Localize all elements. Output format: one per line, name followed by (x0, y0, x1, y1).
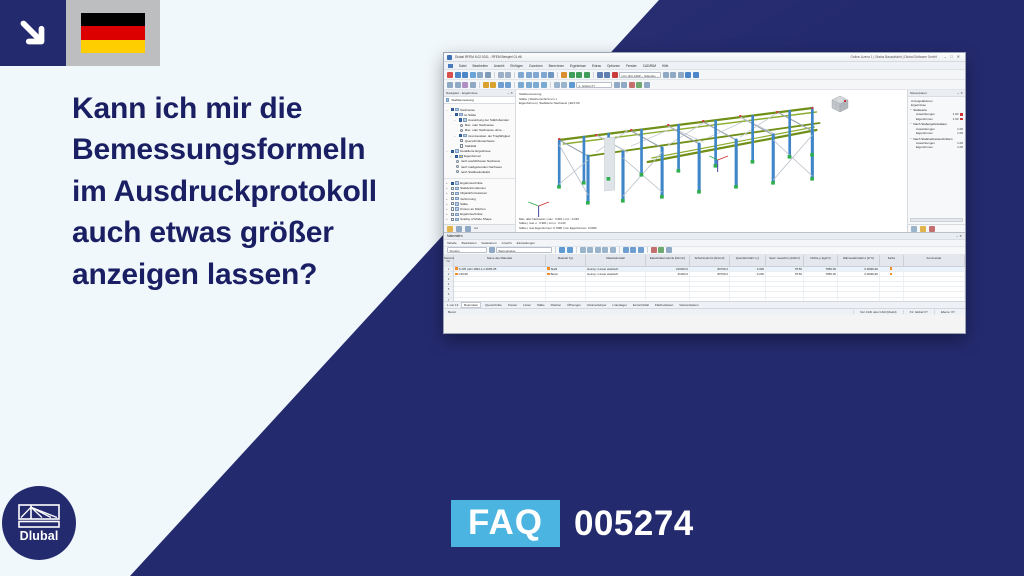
table-grid[interactable]: Material Nr. 1 2 3 4 5 6 7 8 9 Name des … (444, 255, 965, 302)
table-tab-flaechen[interactable]: Flächen (549, 303, 562, 307)
viewport-footnote-3: Stäbe | max Eigenformen: 0.7998 | min Ei… (519, 226, 597, 230)
cell-nu: 0.200 (730, 272, 766, 276)
table-menu-selektieren[interactable]: Selektieren (481, 241, 496, 245)
toolbar-icon-redo[interactable] (505, 72, 511, 78)
table-tabs[interactable]: 1 von 13 Materialien Querschnitte Knoten… (444, 301, 965, 308)
toolbar-icon-calc-2[interactable] (569, 72, 575, 78)
toolbar2-icon-17[interactable] (621, 82, 627, 88)
headline-line-2: Bemessungsformeln (72, 129, 442, 170)
table-tab-linien[interactable]: Linien (522, 303, 533, 307)
cell-rho: 7850.00 (804, 267, 838, 271)
toolbar2-separator-2 (514, 82, 515, 88)
cell-color (880, 267, 904, 271)
table-tab-materialien[interactable]: Materialien (461, 302, 480, 308)
cell-gmod: 80769.2 (690, 267, 730, 271)
toolbar-icon-more-1[interactable] (663, 72, 669, 78)
maximize-icon[interactable]: □ (950, 55, 952, 59)
table-menu-ansicht[interactable]: Ansicht (502, 241, 512, 245)
navigator-foot-label: ref (474, 227, 478, 231)
toolbar-icon-calc-1[interactable] (561, 72, 567, 78)
flag-stripe-black (81, 13, 145, 26)
toolbar-icon-view-3[interactable] (533, 72, 539, 78)
toolbar-separator-4 (593, 72, 594, 78)
toolbar2-icon-15[interactable] (569, 82, 575, 88)
column-header-gmod[interactable]: Schubmodul G [N/mm²] (690, 255, 730, 266)
toolbar-icon-grid-1[interactable] (597, 72, 603, 78)
table-tool-icon-4[interactable] (580, 247, 586, 253)
table-tool-icon-5[interactable] (587, 247, 593, 253)
toolbar-icon-save[interactable] (462, 72, 468, 78)
table-tool-icon-8[interactable] (610, 247, 616, 253)
navigator-active-tab[interactable]: Stabbemessung (444, 97, 515, 104)
menu-item-zuordnen[interactable]: Zuordnen (529, 64, 543, 68)
toolbar-separator-2 (514, 72, 515, 78)
tree-item[interactable]: −Grenzauslast. der Tragfähigkeit (446, 133, 513, 138)
cell-gmod: 80769.2 (690, 272, 730, 276)
cell-type: Beton (546, 272, 586, 276)
toolbar-icon-view-5[interactable] (548, 72, 554, 78)
table-tab-volumenlasten[interactable]: Volumenlasten (678, 303, 700, 307)
menu-item-bearbeiten[interactable]: Bearbeiten (472, 64, 487, 68)
menu-item-berechnen[interactable]: Berechnen (549, 64, 564, 68)
column-header-nu[interactable]: Querdehnzahl ν [-] (730, 255, 766, 266)
table-panel-title: Materialien ⌄ ✕ (444, 233, 965, 240)
table-tool-icon-13[interactable] (658, 247, 664, 253)
toolbar2-icon-11[interactable] (533, 82, 539, 88)
toolbar-icon-view-2[interactable] (526, 72, 532, 78)
table-menu-bearbeiten[interactable]: Bearbeiten (462, 241, 477, 245)
toolbar-icon-view-4[interactable] (541, 72, 547, 78)
column-header-comment[interactable]: Kommentar (904, 255, 965, 266)
navigator-foot-icon-3[interactable] (465, 226, 471, 232)
toolbar-separator-1 (494, 72, 495, 78)
toolbar2-icon-10[interactable] (526, 82, 532, 88)
app-body: Navigator - Ergebnisse ⌄ ✕ Stabbemessung… (444, 90, 965, 232)
navigator-header: Navigator - Ergebnisse ⌄ ✕ (444, 90, 515, 97)
status-left: Bereit (448, 310, 853, 314)
table-tool-icon-9[interactable] (623, 247, 629, 253)
table-menu-einstellungen[interactable]: Einstellungen (517, 241, 535, 245)
control-panel-header: Steuerpanel ⌄ ✕ (908, 90, 965, 97)
column-header-type[interactable]: Material Typ (546, 255, 586, 266)
status-plane: Ebene: XY (934, 310, 961, 314)
toolbar2-icon-19[interactable] (636, 82, 642, 88)
flag-stripe-gold (81, 40, 145, 53)
headline: Kann ich mir die Bemessungsformeln im Au… (72, 88, 442, 295)
toolbar2-icon-16[interactable] (614, 82, 620, 88)
headline-line-5: anzeigen lassen? (72, 254, 442, 295)
menu-item-datei[interactable]: Datei (459, 64, 466, 68)
app-title: Dlubal RFEM 6.02.0011 - RFEM Beispiel 01… (455, 55, 847, 59)
control-panel-scrollbar[interactable] (910, 218, 963, 222)
table-tab-volumenkoerper[interactable]: Volumenkörper (585, 303, 608, 307)
table-tool-icon-12[interactable] (651, 247, 657, 253)
table-tab-staebe[interactable]: Stäbe (535, 303, 546, 307)
table-toolbar-separator-2 (576, 247, 577, 253)
cell-nu: 0.300 (730, 267, 766, 271)
table-tool-icon-1[interactable] (489, 247, 495, 253)
status-view: X1: Global XY (903, 310, 934, 314)
color-swatch[interactable] (960, 113, 963, 116)
table-row-headers: Material Nr. 1 2 3 4 5 6 7 8 9 (444, 255, 454, 302)
control-row[interactable]: Auswirkungen 1.00 (910, 126, 963, 131)
app-toolbar-primary[interactable]: LK1 (EN 1993) - Ständige ... (444, 70, 965, 80)
cell-rho: 7850.00 (804, 272, 838, 276)
bridge-truss-icon (18, 504, 60, 528)
toolbar-icon-result[interactable] (612, 72, 618, 78)
navigator-pin-icon[interactable]: ⌄ ✕ (507, 91, 513, 95)
table-tool-icon-14[interactable] (666, 247, 672, 253)
navigator-foot-icon-2[interactable] (456, 226, 462, 232)
toolbar2-icon-13[interactable] (554, 82, 560, 88)
table-tab-flaechenlasten[interactable]: Flächenlasten (653, 303, 674, 307)
rfem-application-window: Dlubal RFEM 6.02.0011 - RFEM Beispiel 01… (443, 52, 966, 334)
load-case-combo[interactable]: LK1 (EN 1993) - Ständige ... (619, 72, 661, 78)
cell-alpha: 0.0000120 (838, 267, 880, 271)
menu-item-fenster[interactable]: Fenster (626, 64, 637, 68)
toolbar2-icon-3[interactable] (462, 82, 468, 88)
flag-badge (66, 0, 160, 66)
table-pager[interactable]: 1 von 13 (447, 303, 458, 307)
cell-name: C25/30 (454, 272, 546, 276)
toolbar2-icon-20[interactable] (644, 82, 650, 88)
color-swatch[interactable] (960, 118, 963, 121)
control-panel-group: − Stabwerte Auswirkungen 1.00 Eigenforme… (908, 107, 965, 121)
toolbar-icon-preview[interactable] (485, 72, 491, 78)
tree-item[interactable]: −Auswirkung der Stäbfußenden (446, 117, 513, 122)
german-flag-icon (81, 13, 145, 53)
dlubal-logo: Dlubal (2, 486, 76, 560)
control-panel-subtitle: Anzeigefaktoren Ergebnisse (908, 97, 965, 107)
table-tab-exzentrizitaet[interactable]: Exzentrizität (631, 303, 650, 307)
minimize-icon[interactable]: – (944, 55, 946, 59)
table-type-combo[interactable]: Basisobjekte (496, 247, 552, 253)
cell-gamma: 78.50 (766, 272, 804, 276)
group-expander-icon[interactable]: − (910, 137, 912, 141)
menu-item-hilfe[interactable]: Hilfe (662, 64, 668, 68)
table-tab-linienlager[interactable]: Linienlager (611, 303, 628, 307)
toolbar-icon-more-3[interactable] (678, 72, 684, 78)
menu-item-ansicht[interactable]: Ansicht (494, 64, 504, 68)
menu-item-extras[interactable]: Extras (592, 64, 601, 68)
toolbar-icon-grid-2[interactable] (604, 72, 610, 78)
navigator-tab-icon (446, 98, 449, 101)
column-header-rho[interactable]: Dichte ρ [kg/m³] (804, 255, 838, 266)
table-toolbar-separator-4 (647, 247, 648, 253)
table-header-row: Name des Materials Material Typ Material… (454, 255, 965, 267)
toolbar2-icon-7[interactable] (498, 82, 504, 88)
app-menubar[interactable]: Datei Bearbeiten Ansicht Einfügen Zuordn… (444, 62, 965, 70)
toolbar-icon-more-5[interactable] (693, 72, 699, 78)
control-panel-footer[interactable] (908, 224, 965, 232)
toolbar-icon-more-2[interactable] (670, 72, 676, 78)
control-panel-close-icon[interactable]: ⌄ ✕ (957, 91, 963, 95)
control-row[interactable]: Auswirkungen 1.00 (910, 141, 963, 146)
toolbar-icon-new[interactable] (447, 72, 453, 78)
navigator-tree[interactable]: −Nachweise −Ist Stäbe −Auswirkung der St… (444, 104, 515, 178)
navigator-title: Navigator - Ergebnisse (446, 91, 477, 95)
menu-item-einfuegen[interactable]: Einfügen (510, 64, 523, 68)
toolbar-icon-saveas[interactable] (470, 72, 476, 78)
faq-label-chip: FAQ (451, 500, 560, 547)
toolbar2-icon-12[interactable] (541, 82, 547, 88)
toolbar2-separator-3 (550, 82, 551, 88)
table-tool-icon-11[interactable] (638, 247, 644, 253)
cell-emod: 31000.0 (646, 272, 690, 276)
toolbar-icon-calc-4[interactable] (584, 72, 590, 78)
toolbar2-icon-18[interactable] (629, 82, 635, 88)
toolbar2-icon-2[interactable] (455, 82, 461, 88)
control-foot-icon-3[interactable] (929, 226, 935, 232)
headline-line-3: im Ausdruckprotokoll (72, 171, 442, 212)
table-tool-icon-2[interactable] (559, 247, 565, 253)
cell-emod: 210000.0 (646, 267, 690, 271)
table-toolbar-separator-1 (555, 247, 556, 253)
toolbar-separator-3 (557, 72, 558, 78)
viewport-footnotes: Max. aller Nachweis | max : 0.981 | min … (519, 217, 597, 230)
toolbar-icon-calc-3[interactable] (576, 72, 582, 78)
control-panel: Steuerpanel ⌄ ✕ Anzeigefaktoren Ergebnis… (907, 90, 965, 232)
arrow-badge (0, 0, 66, 66)
close-icon[interactable]: ✕ (957, 55, 960, 59)
cell-alpha: 0.0000120 (838, 272, 880, 276)
model-viewport[interactable]: Stabbemessung Stäbe | Flächenschnitt um … (516, 90, 907, 232)
app-logo-icon (447, 55, 452, 60)
toolbar2-icon-8[interactable] (505, 82, 511, 88)
table-tool-icon-3[interactable] (567, 247, 573, 253)
column-header-color[interactable]: Farbe (880, 255, 904, 266)
status-bar: Bereit Nur CAD oder CAD (Modul) X1: Glob… (444, 308, 965, 315)
toolbar2-icon-4[interactable] (470, 82, 476, 88)
origin-axes (709, 156, 728, 172)
app-toolbar-secondary[interactable]: 1. Global XY (444, 80, 965, 90)
table-columns: Name des Materials Material Typ Material… (454, 255, 965, 302)
column-header-alpha[interactable]: Wärmedehnzahl α [1/°C] (838, 255, 880, 266)
column-header-gamma[interactable]: Spez. Gewicht γ [kN/m³] (766, 255, 804, 266)
tree-item[interactable]: nach Stabbaukollektiv (446, 169, 513, 174)
toolbar-icon-undo[interactable] (498, 72, 504, 78)
table-filter-combo[interactable]: Struktur (447, 247, 487, 253)
cell-gamma: 78.50 (766, 267, 804, 271)
navigator-foot-icon-1[interactable] (447, 226, 453, 232)
cell-type: Stahl (546, 267, 586, 271)
toolbar2-icon-14[interactable] (561, 82, 567, 88)
table-toolbar-separator-3 (619, 247, 620, 253)
navigator-tree-bottom[interactable]: +Ergebnisschnitte +Stabdeformationen +Ob… (444, 178, 515, 225)
toolbar2-icon-5[interactable] (483, 82, 489, 88)
column-header-name[interactable]: Name des Materials (454, 255, 546, 266)
table-toolbar[interactable]: Struktur Basisobjekte (444, 247, 965, 255)
column-header-emod[interactable]: Elastizitätsmodul E [N/mm²] (646, 255, 690, 266)
table-tab-oeffnungen[interactable]: Öffnungen (566, 303, 583, 307)
toolbar2-icon-6[interactable] (490, 82, 496, 88)
navigator-tab-label: Stabbemessung (451, 98, 473, 102)
toolbar-icon-open[interactable] (455, 72, 461, 78)
table-corner-header: Material Nr. (444, 255, 453, 267)
menu-burger-icon[interactable] (448, 64, 453, 68)
group-expander-icon[interactable]: − (910, 108, 912, 112)
group-expander-icon[interactable]: − (910, 122, 912, 126)
toolbar2-separator-1 (479, 82, 480, 88)
menu-item-optionen[interactable]: Optionen (607, 64, 620, 68)
view-cube-gizmo[interactable] (829, 94, 851, 114)
table-tab-knoten[interactable]: Knoten (506, 303, 518, 307)
flag-stripe-red (81, 26, 145, 39)
app-license-label: Online-Lizenz 1 | Status Bauaufsicht | D… (850, 55, 937, 59)
control-panel-scrollarea (908, 216, 965, 224)
toolbar-icon-view-1[interactable] (518, 72, 524, 78)
faq-footer: FAQ 005274 (451, 500, 694, 547)
navigator-footer-toolbar[interactable]: ref (444, 224, 515, 232)
table-tool-icon-7[interactable] (602, 247, 608, 253)
control-panel-group: − Nach Stabnachweisschnitten Auswirkunge… (908, 136, 965, 150)
table-menu-tabelle[interactable]: Tabelle (447, 241, 457, 245)
tree-item[interactable]: +Scaling of Mode Shape (446, 217, 513, 222)
cell-color (880, 272, 904, 276)
table-tab-querschnitte[interactable]: Querschnitte (484, 303, 504, 307)
table-panel: Materialien ⌄ ✕ Tabelle Bearbeiten Selek… (444, 232, 965, 308)
menu-item-ergebnisse[interactable]: Ergebnisse (570, 64, 586, 68)
control-panel-group: − Nach Stabergebnisdaten Auswirkungen 1.… (908, 121, 965, 135)
dlubal-wordmark: Dlubal (20, 530, 59, 543)
cell-comment (904, 272, 965, 276)
control-row[interactable]: Eigenformen 1.00 (910, 145, 963, 150)
table-title-label: Materialien (447, 234, 463, 238)
arrow-down-right-icon (16, 16, 50, 50)
top-badges (0, 0, 160, 66)
cell-name: S 235 | EN 1993-1-1:2005-05 (454, 267, 546, 271)
toolbar-icon-more-4[interactable] (685, 72, 691, 78)
window-controls[interactable]: – □ ✕ (944, 55, 960, 59)
toolbar-icon-print[interactable] (477, 72, 483, 78)
cell-model: Isotrop | Linear elastisch (586, 272, 646, 276)
column-header-model[interactable]: Materialmodell (586, 255, 646, 266)
cell-comment (904, 267, 965, 271)
control-foot-icon-2[interactable] (920, 226, 926, 232)
toolbar2-icon-9[interactable] (518, 82, 524, 88)
status-mode: Nur CAD oder CAD (Modul) (853, 310, 902, 314)
headline-line-4: auch etwas größer (72, 212, 442, 253)
control-foot-icon-1[interactable] (911, 226, 917, 232)
viewport-axis-triad (528, 202, 549, 217)
table-tool-icon-6[interactable] (595, 247, 601, 253)
menu-item-cadbim[interactable]: CAD/BIM (643, 64, 656, 68)
control-row[interactable]: Auswirkungen 1.00 (910, 112, 963, 117)
cell-model: Isotrop | Linear elastisch (586, 267, 646, 271)
table-panel-close-icon[interactable]: ⌄ ✕ (956, 234, 962, 238)
table-tool-icon-10[interactable] (630, 247, 636, 253)
view-combo[interactable]: 1. Global XY (576, 82, 612, 88)
toolbar2-icon-1[interactable] (447, 82, 453, 88)
headline-line-1: Kann ich mir die (72, 88, 442, 129)
navigator-panel: Navigator - Ergebnisse ⌄ ✕ Stabbemessung… (444, 90, 516, 232)
faq-banner: Kann ich mir die Bemessungsformeln im Au… (0, 0, 1024, 576)
faq-number: 005274 (574, 506, 694, 541)
control-panel-title: Steuerpanel (910, 91, 927, 95)
app-titlebar: Dlubal RFEM 6.02.0011 - RFEM Beispiel 01… (444, 53, 965, 62)
